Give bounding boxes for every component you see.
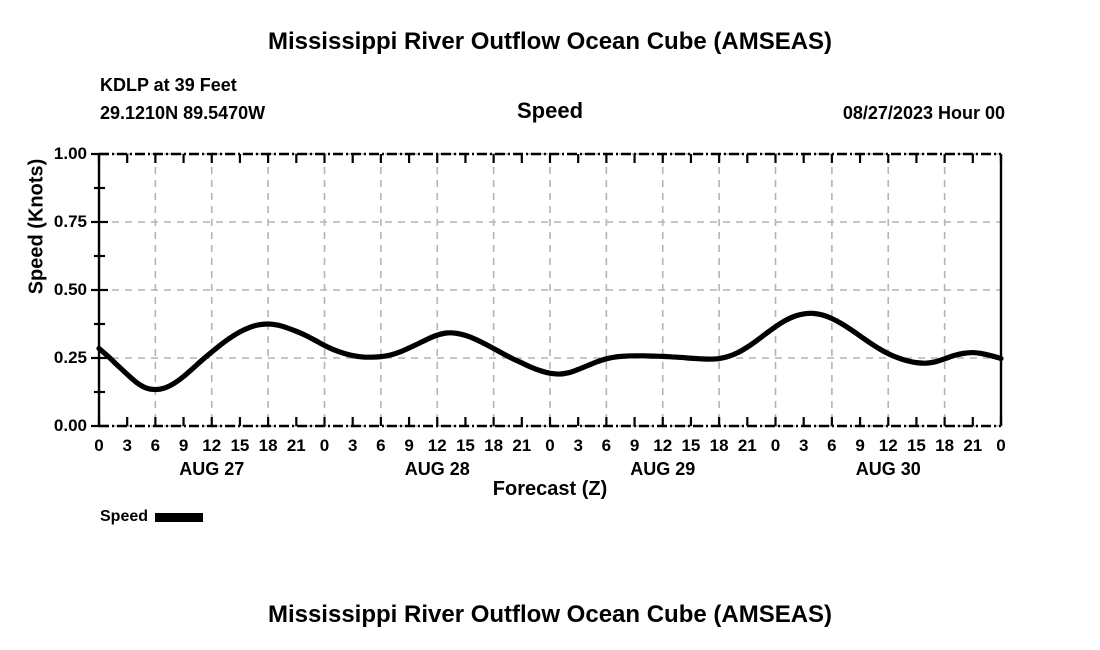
chart-area: Speed (Knots) 0.000.250.500.751.00 03691…: [0, 0, 1100, 650]
legend: Speed: [100, 508, 203, 526]
legend-swatch-speed: [155, 513, 203, 522]
legend-label-speed: Speed: [100, 508, 148, 526]
x-axis-title: Forecast (Z): [0, 478, 1100, 501]
page-title-bottom: Mississippi River Outflow Ocean Cube (AM…: [0, 601, 1100, 629]
plot-canvas: [0, 0, 1100, 650]
